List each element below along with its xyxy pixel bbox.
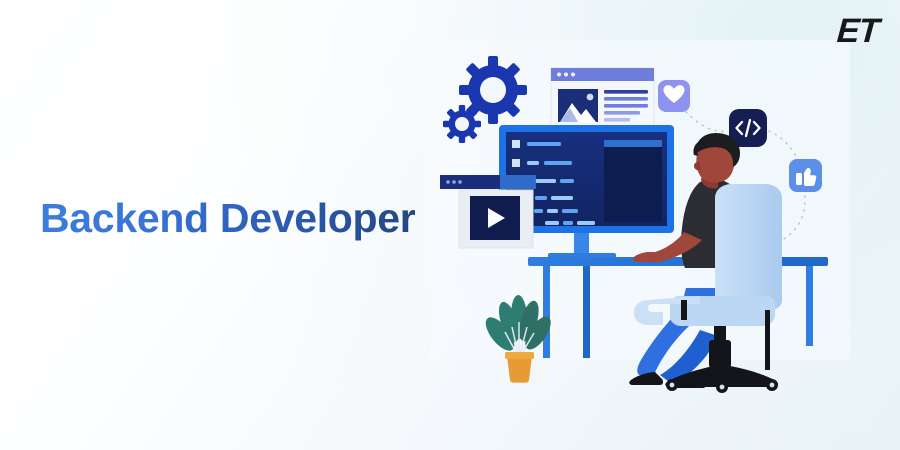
banner-root: ET [0, 0, 900, 450]
heart-badge-icon [658, 80, 690, 112]
et-logo: ET [835, 14, 879, 48]
page-title: Backend Developer [40, 196, 415, 241]
accent-ribbon [500, 175, 536, 189]
thumbs-up-badge-icon [789, 159, 822, 192]
gear-small-icon [443, 105, 481, 143]
